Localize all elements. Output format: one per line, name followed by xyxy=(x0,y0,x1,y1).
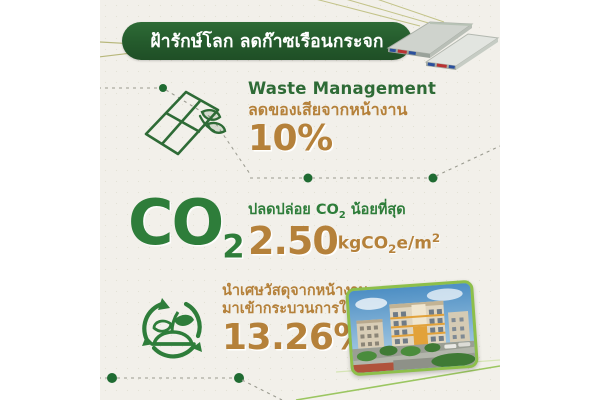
infographic-canvas: ฝ้ารักษ์โลก ลดก๊าซเรือนกระจก xyxy=(100,0,500,400)
co2-heading-tail: น้อยที่สุด xyxy=(346,202,406,218)
recycle-plant-icon xyxy=(132,286,216,366)
waste-value: 10% xyxy=(248,121,498,157)
waste-management-text-block: Waste Management ลดของเสียจากหน้างาน 10% xyxy=(248,80,498,157)
co2-unit-prefix: kgCO xyxy=(338,234,388,254)
waste-heading-en: Waste Management xyxy=(248,80,498,99)
co2-heading-subscript: 2 xyxy=(339,210,346,221)
roof-sheet-panels-illustration xyxy=(368,4,500,72)
section-co2-emission: CO2 ปลดปล่อย CO2 น้อยที่สุด 2.50 kgCO2e/… xyxy=(100,188,500,268)
screenshot-root: ฝ้ารักษ์โลก ลดก๊าซเรือนกระจก xyxy=(0,0,600,400)
co2-unit-middle: e/m xyxy=(396,234,431,254)
co2-value: 2.50 xyxy=(248,223,338,259)
apartment-building-photo xyxy=(345,280,479,377)
co2-wordmark-base: CO xyxy=(128,186,222,259)
co2-wordmark: CO2 xyxy=(128,192,243,263)
solar-panel-leaf-icon xyxy=(138,82,234,162)
co2-heading-th: ปลดปล่อย CO2 น้อยที่สุด xyxy=(248,198,440,221)
co2-unit-superscript: 2 xyxy=(432,231,440,245)
section-waste-management: Waste Management ลดของเสียจากหน้างาน 10% xyxy=(100,78,500,170)
waste-heading-th: ลดของเสียจากหน้างาน xyxy=(248,100,498,119)
co2-text-block: ปลดปล่อย CO2 น้อยที่สุด 2.50 kgCO2e/m2 xyxy=(248,198,440,259)
co2-heading-lead: ปลดปล่อย CO xyxy=(248,202,339,218)
co2-unit: kgCO2e/m2 xyxy=(338,231,440,259)
co2-wordmark-subscript: 2 xyxy=(222,227,242,265)
banner-title: ฝ้ารักษ์โลก ลดก๊าซเรือนกระจก xyxy=(150,27,383,55)
